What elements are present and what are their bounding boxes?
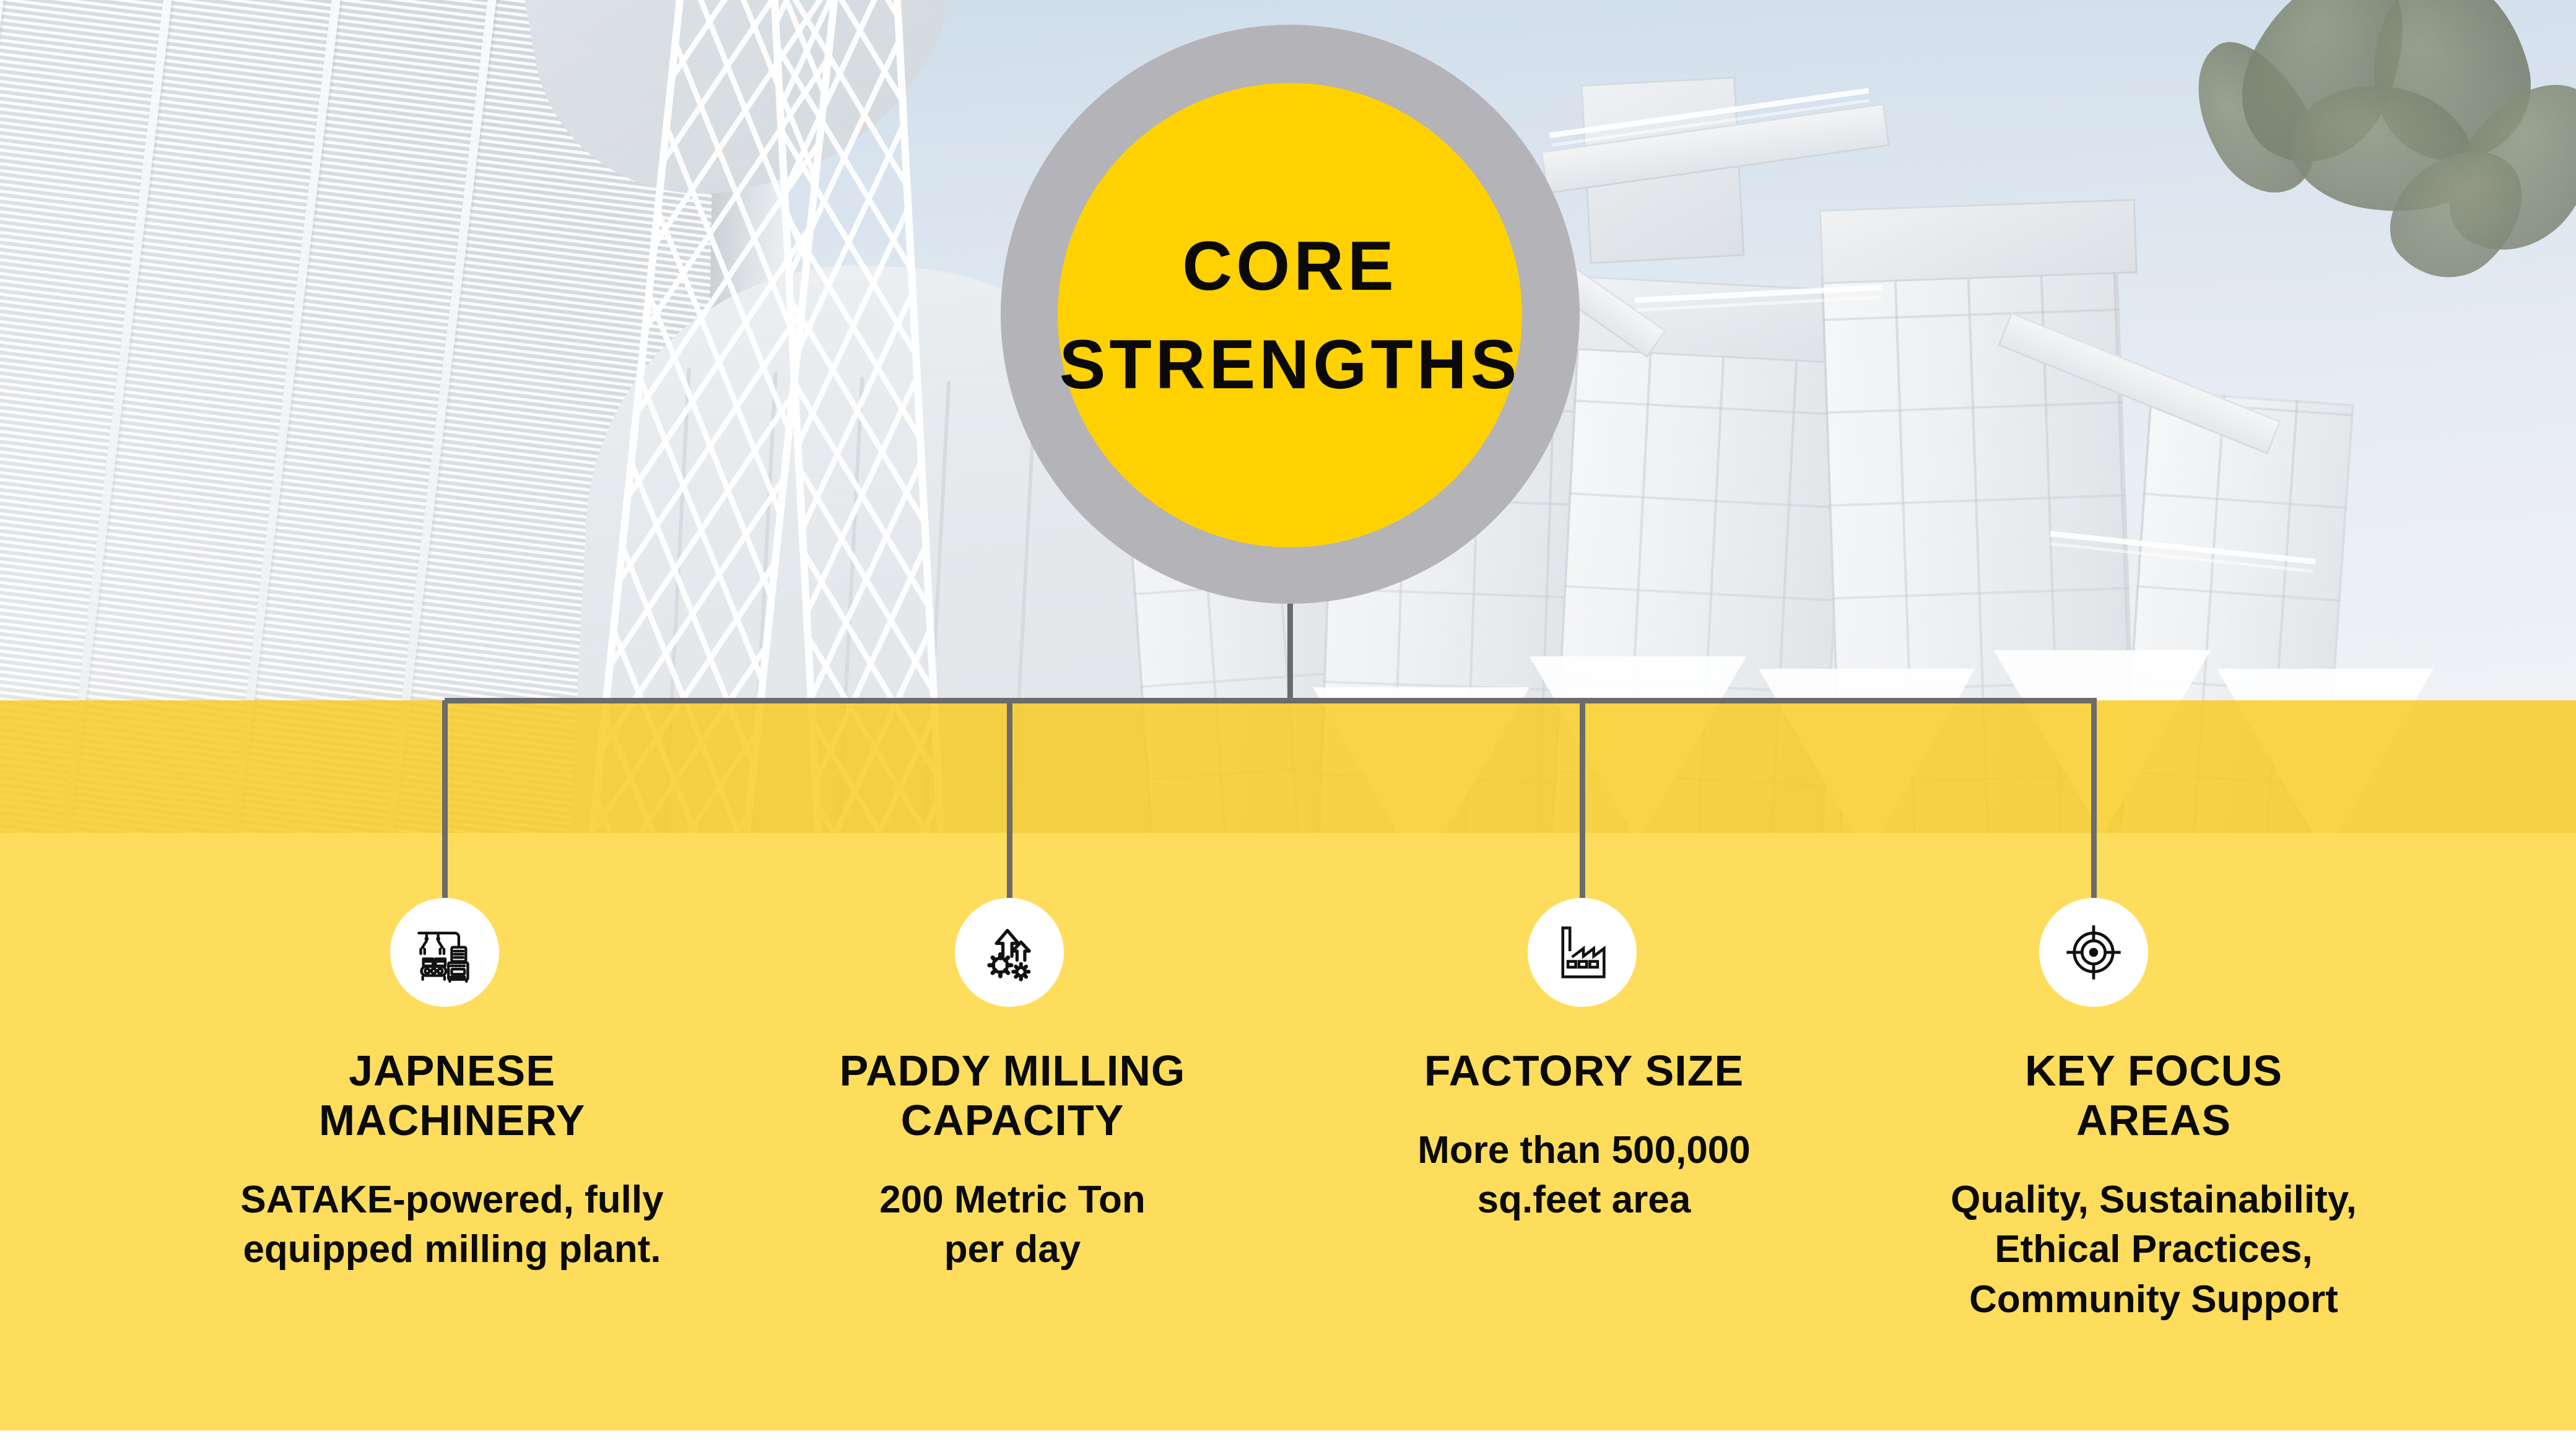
column-4-body: Quality, Sustainability, Ethical Practic… [1906,1175,2401,1325]
core-strengths-circle[interactable]: CORE STRENGTHS [1058,83,1522,547]
column-connector-1 [442,700,448,899]
column-2: PADDY MILLING CAPACITY 200 Metric Ton pe… [765,1046,1260,1275]
core-strengths-label: CORE STRENGTHS [1058,217,1522,414]
column-3-body: More than 500,000 sq.feet area [1336,1126,1832,1225]
column-1-body: SATAKE-powered, fully equipped milling p… [204,1175,700,1275]
mill-tower-2-cap [1819,199,2138,284]
icon-bubble-2[interactable] [955,898,1064,1007]
assembly-line-icon [412,920,477,985]
column-connector-2 [1007,700,1012,899]
column-connector-4 [2091,700,2097,899]
gears-growth-arrows-icon [977,920,1042,985]
icon-bubble-4[interactable] [2039,898,2148,1007]
column-1-title: JAPNESE MACHINERY [204,1046,700,1146]
column-4-title: KEY FOCUS AREAS [1906,1046,2401,1146]
infographic-canvas: CORE STRENGTHS [0,0,2576,1449]
hub-connector-stem [1287,594,1293,703]
icon-bubble-1[interactable] [390,898,499,1007]
column-3: FACTORY SIZE More than 500,000 sq.feet a… [1336,1046,1832,1225]
column-2-title: PADDY MILLING CAPACITY [765,1046,1260,1146]
column-3-title: FACTORY SIZE [1336,1046,1832,1096]
horizontal-connector-line [445,698,2097,703]
target-crosshair-icon [2061,920,2126,985]
translucent-yellow-band [0,700,2576,833]
column-2-body: 200 Metric Ton per day [765,1175,1260,1275]
column-4: KEY FOCUS AREAS Quality, Sustainability,… [1906,1046,2401,1325]
factory-icon [1550,920,1614,985]
bottom-white-margin [0,1430,2576,1449]
column-connector-3 [1580,700,1585,899]
column-1: JAPNESE MACHINERY SATAKE-powered, fully … [204,1046,700,1275]
icon-bubble-3[interactable] [1528,898,1637,1007]
